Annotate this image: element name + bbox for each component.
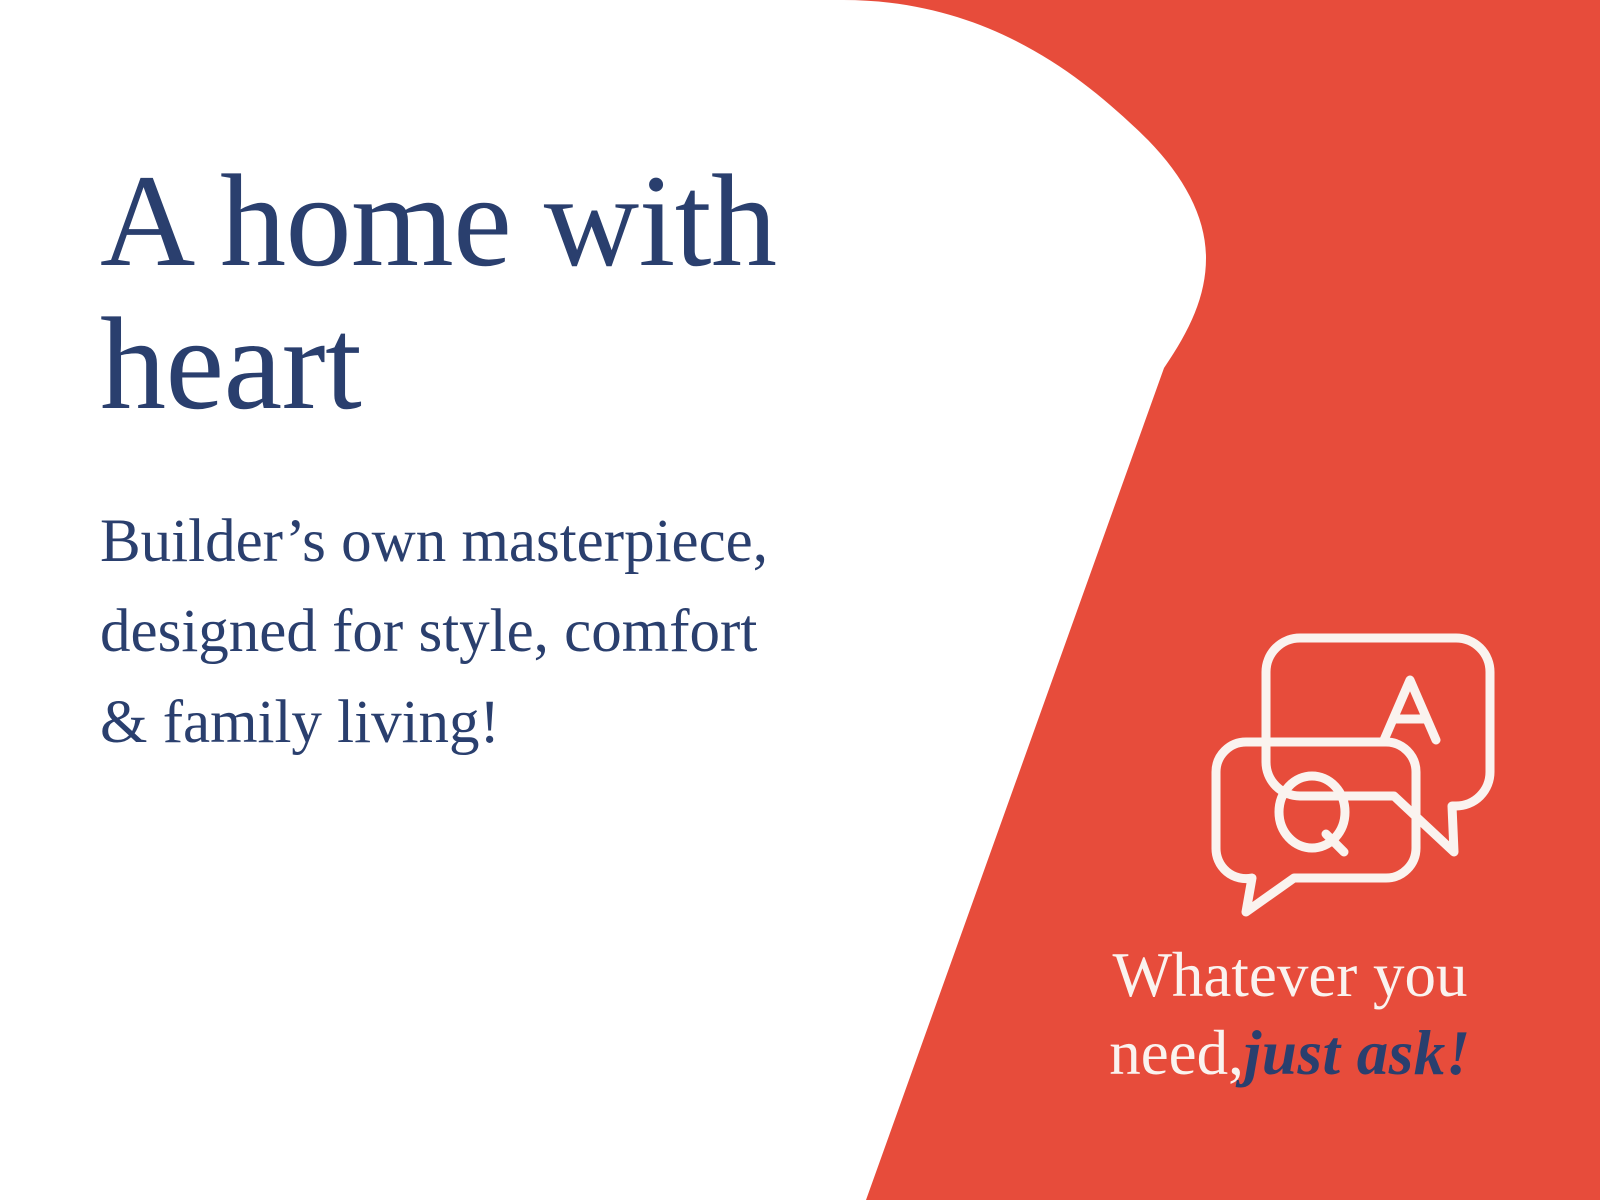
cta-block: Whatever you need,just ask! [1030, 600, 1550, 1092]
page-title: A home with heart [100, 150, 960, 435]
tagline-plain-text: need, [1109, 1018, 1244, 1088]
tagline-accent-text: just ask! [1244, 1018, 1471, 1088]
tagline-line-2: need,just ask! [1030, 1014, 1550, 1092]
headline-block: A home with heart Builder’s own masterpi… [100, 150, 960, 768]
subtitle-text: Builder’s own masterpiece, designed for … [100, 497, 960, 768]
promo-card: A home with heart Builder’s own masterpi… [0, 0, 1600, 1200]
qa-speech-bubbles-icon [1208, 600, 1508, 910]
tagline: Whatever you need,just ask! [1030, 936, 1550, 1092]
tagline-line-1: Whatever you [1030, 936, 1550, 1014]
